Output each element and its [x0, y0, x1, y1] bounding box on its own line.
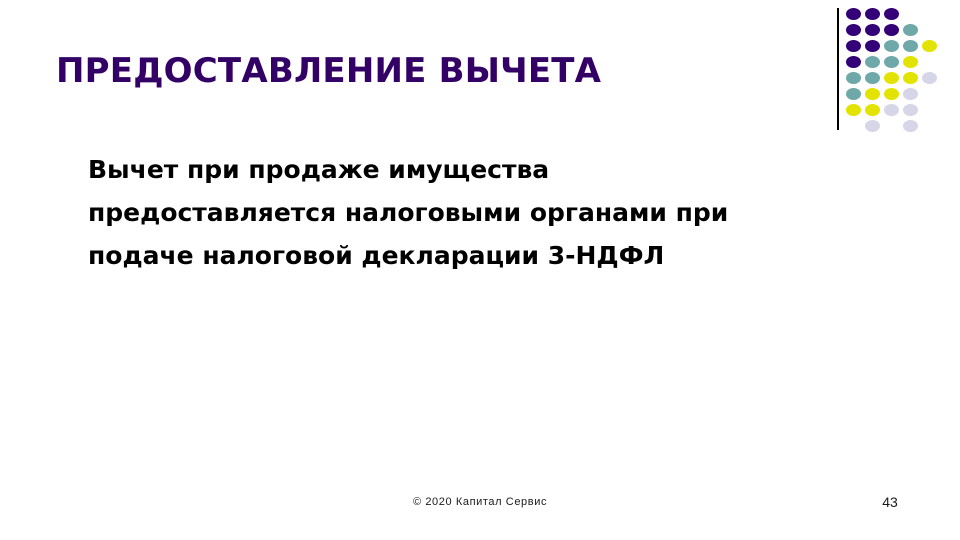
logo-dot [884, 40, 899, 52]
logo-dot [903, 88, 918, 100]
logo-dot [884, 24, 899, 36]
logo-dot [922, 40, 937, 52]
logo-dot [884, 56, 899, 68]
logo-divider-rule [837, 8, 839, 130]
logo-dot [865, 72, 880, 84]
logo-dot [884, 8, 899, 20]
logo-dot [846, 88, 861, 100]
slide-body-text: Вычет при продаже имущества предоставляе… [88, 148, 768, 277]
page-title: ПРЕДОСТАВЛЕНИЕ ВЫЧЕТА [56, 50, 796, 92]
logo-dot [922, 72, 937, 84]
logo-dot [903, 56, 918, 68]
brand-logo [820, 0, 960, 140]
logo-dot [884, 88, 899, 100]
logo-dot [865, 56, 880, 68]
logo-dot [865, 40, 880, 52]
logo-dot [884, 104, 899, 116]
logo-dot [846, 56, 861, 68]
logo-dot [865, 24, 880, 36]
logo-dot [884, 72, 899, 84]
footer-copyright: © 2020 Капитал Сервис [0, 496, 960, 508]
logo-dot [846, 72, 861, 84]
slide-canvas: ПРЕДОСТАВЛЕНИЕ ВЫЧЕТА Вычет при продаже … [0, 0, 960, 540]
logo-dot [903, 24, 918, 36]
logo-dot [903, 72, 918, 84]
logo-dot [865, 88, 880, 100]
logo-dot [903, 40, 918, 52]
logo-dot [865, 104, 880, 116]
logo-dot [846, 8, 861, 20]
logo-dot [865, 8, 880, 20]
logo-dot [846, 40, 861, 52]
logo-dot [846, 104, 861, 116]
logo-dot [846, 24, 861, 36]
slide-page-number: 43 [860, 494, 920, 510]
dot-matrix-logo-icon [846, 8, 956, 128]
logo-dot [903, 104, 918, 116]
logo-dot [865, 120, 880, 132]
logo-dot [903, 120, 918, 132]
